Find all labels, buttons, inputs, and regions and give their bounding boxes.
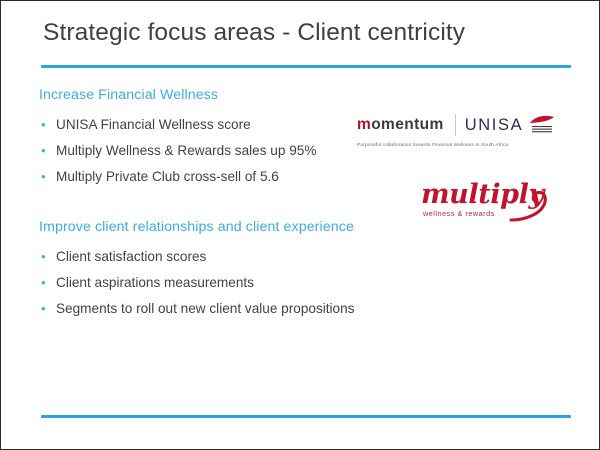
list-item-label: UNISA Financial Wellness score <box>56 117 251 132</box>
content-block-client-relationships: Improve client relationships and client … <box>39 219 354 322</box>
section-heading-improve-client-relationships: Improve client relationships and client … <box>39 219 354 235</box>
list-item: • Segments to roll out new client value … <box>39 296 354 322</box>
logo-divider <box>455 114 456 136</box>
section-heading-increase-financial-wellness: Increase Financial Wellness <box>39 87 316 103</box>
multiply-logo: multiply wellness & rewards <box>413 179 553 225</box>
logo-row: momentum UNISA <box>357 111 573 139</box>
list-item-label: Client aspirations measurements <box>56 275 254 290</box>
list-item-label: Client satisfaction scores <box>56 249 206 264</box>
bullet-dot-icon: • <box>41 296 46 322</box>
title-divider-rule <box>41 65 571 68</box>
list-item: • Multiply Wellness & Rewards sales up 9… <box>39 138 316 164</box>
bullet-list-client-relationships: • Client satisfaction scores • Client as… <box>39 244 354 322</box>
unisa-swoosh-icon <box>529 114 555 136</box>
list-item: • UNISA Financial Wellness score <box>39 112 316 138</box>
partnership-tagline: Purposeful collaboration towards Financi… <box>357 143 573 148</box>
footer-divider-rule <box>41 415 571 418</box>
momentum-logo: momentum <box>357 117 444 133</box>
slide: Strategic focus areas - Client centricit… <box>0 0 600 450</box>
bullet-dot-icon: • <box>41 112 46 138</box>
list-item-label: Segments to roll out new client value pr… <box>56 301 354 316</box>
list-item: • Multiply Private Club cross-sell of 5.… <box>39 164 316 190</box>
bullet-dot-icon: • <box>41 270 46 296</box>
list-item-label: Multiply Wellness & Rewards sales up 95% <box>56 143 316 158</box>
list-item: • Client satisfaction scores <box>39 244 354 270</box>
momentum-logo-initial: m <box>357 116 371 133</box>
bullet-dot-icon: • <box>41 244 46 270</box>
bullet-dot-icon: • <box>41 138 46 164</box>
list-item-label: Multiply Private Club cross-sell of 5.6 <box>56 169 279 184</box>
bullet-dot-icon: • <box>41 164 46 190</box>
content-block-financial-wellness: Increase Financial Wellness • UNISA Fina… <box>39 87 316 190</box>
momentum-logo-text: omentum <box>371 116 444 133</box>
partnership-logo-lockup: momentum UNISA Purposeful collaboration … <box>357 111 573 148</box>
multiply-swash-icon <box>509 189 551 223</box>
multiply-logo-subtitle: wellness & rewards <box>423 210 495 217</box>
list-item: • Client aspirations measurements <box>39 270 354 296</box>
page-title: Strategic focus areas - Client centricit… <box>43 19 465 47</box>
unisa-logo-text: UNISA <box>465 117 523 134</box>
bullet-list-financial-wellness: • UNISA Financial Wellness score • Multi… <box>39 112 316 190</box>
